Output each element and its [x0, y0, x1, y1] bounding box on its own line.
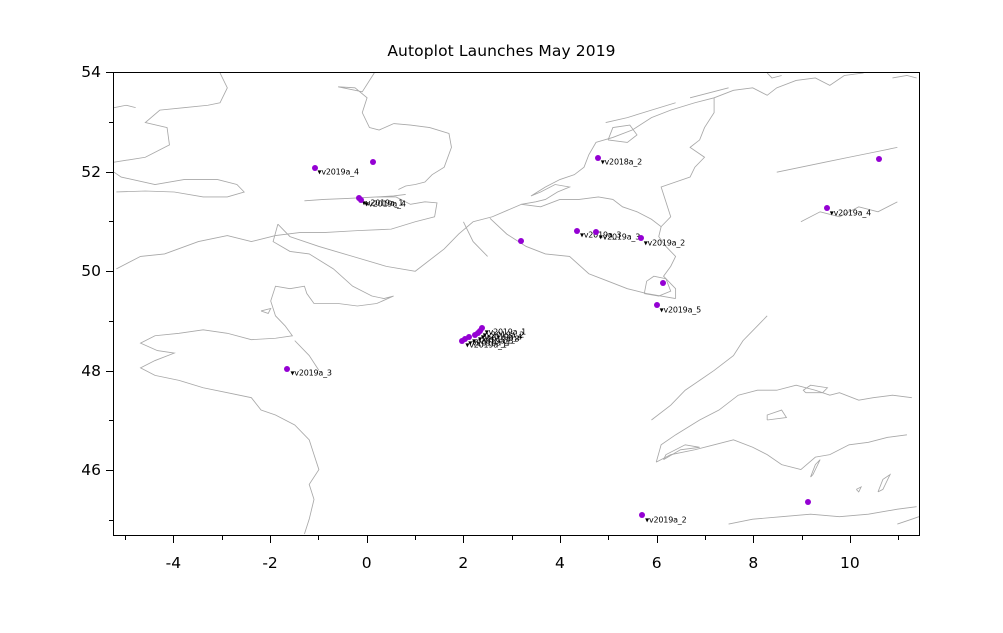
x-tick-label-4: 4 [538, 554, 582, 572]
x-tick-major [463, 536, 464, 543]
x-tick-major [753, 536, 754, 543]
y-tick-major [106, 271, 113, 272]
x-tick-minor [415, 536, 416, 540]
x-tick-label--2: -2 [248, 554, 292, 572]
scatter-point[interactable] [876, 156, 882, 162]
coastline-path [278, 204, 521, 271]
coastline-path [656, 385, 912, 462]
coastline-path [114, 73, 227, 162]
x-tick-minor [318, 536, 319, 540]
y-tick-label-48: 48 [1, 362, 101, 380]
coastline-path [521, 197, 675, 299]
coastline-path [767, 410, 786, 420]
coastline-path [892, 75, 916, 77]
scatter-point-label: ▾v2018a_2 [601, 158, 642, 167]
basemap-coastlines [114, 73, 919, 535]
coastline-path [856, 487, 861, 492]
x-tick-minor [898, 536, 899, 540]
coastline-path [114, 105, 136, 107]
scatter-point-label: ▾v2019a_3 [599, 232, 640, 241]
coastline-path [651, 316, 767, 420]
x-tick-label-0: 0 [345, 554, 389, 572]
scatter-point-label: ▾v2019a_2 [644, 238, 685, 247]
x-tick-label-6: 6 [635, 554, 679, 572]
x-tick-minor [705, 536, 706, 540]
coastline-path [803, 385, 827, 392]
coastline-path [394, 124, 452, 190]
coastline-path [261, 308, 271, 313]
plot-area: ▾v2019a_4▾v2019a_1▾v2019a_4▾v2018a_2▾v20… [113, 72, 920, 536]
figure-canvas: Autoplot Launches May 2019 4648505254 -4… [0, 0, 1003, 633]
coastline-path [295, 341, 319, 371]
x-tick-major [560, 536, 561, 543]
scatter-point-label: ▾v2019a_2 [645, 515, 686, 524]
y-tick-label-46: 46 [1, 461, 101, 479]
coastline-path [338, 73, 393, 130]
x-tick-minor [802, 536, 803, 540]
coastline-path [656, 435, 907, 470]
x-tick-major [657, 536, 658, 543]
x-tick-minor [512, 536, 513, 540]
scatter-point[interactable] [370, 159, 376, 165]
chart-title: Autoplot Launches May 2019 [0, 42, 1003, 60]
coastline-path [767, 73, 781, 78]
scatter-point-label: ▾v2019a_1 [465, 341, 506, 350]
y-tick-label-52: 52 [1, 163, 101, 181]
y-tick-label-50: 50 [1, 262, 101, 280]
x-tick-major [850, 536, 851, 543]
y-tick-major [106, 72, 113, 73]
coastline-path [661, 98, 714, 227]
scatter-point-label: ▾v2019a_4 [830, 208, 871, 217]
coastline-path [811, 460, 821, 477]
scatter-point[interactable] [660, 280, 666, 286]
scatter-point-label: ▾v2019a_5 [660, 305, 701, 314]
x-tick-major [173, 536, 174, 543]
x-tick-label-8: 8 [731, 554, 775, 572]
coastline-path [897, 517, 919, 524]
scatter-point[interactable] [805, 499, 811, 505]
x-tick-major [367, 536, 368, 543]
x-tick-label--4: -4 [151, 554, 195, 572]
x-tick-label-10: 10 [828, 554, 872, 572]
coastline-path [729, 507, 917, 524]
y-tick-major [106, 371, 113, 372]
coastline-path [878, 475, 890, 492]
x-tick-minor [222, 536, 223, 540]
x-tick-major [270, 536, 271, 543]
y-tick-major [106, 172, 113, 173]
coastline-path [690, 88, 729, 98]
x-tick-minor [608, 536, 609, 540]
coastline-path [141, 224, 394, 534]
scatter-point-label: ▾v2019a_4 [318, 168, 359, 177]
y-tick-major [106, 470, 113, 471]
scatter-point[interactable] [518, 238, 524, 244]
x-tick-label-2: 2 [441, 554, 485, 572]
y-tick-label-54: 54 [1, 63, 101, 81]
scatter-point-label: ▾v2019a_4 [364, 200, 405, 209]
scatter-point-label: ▾v2019a_3 [290, 369, 331, 378]
coastline-path [114, 172, 244, 197]
x-tick-minor [125, 536, 126, 540]
coastline-path [521, 73, 863, 204]
